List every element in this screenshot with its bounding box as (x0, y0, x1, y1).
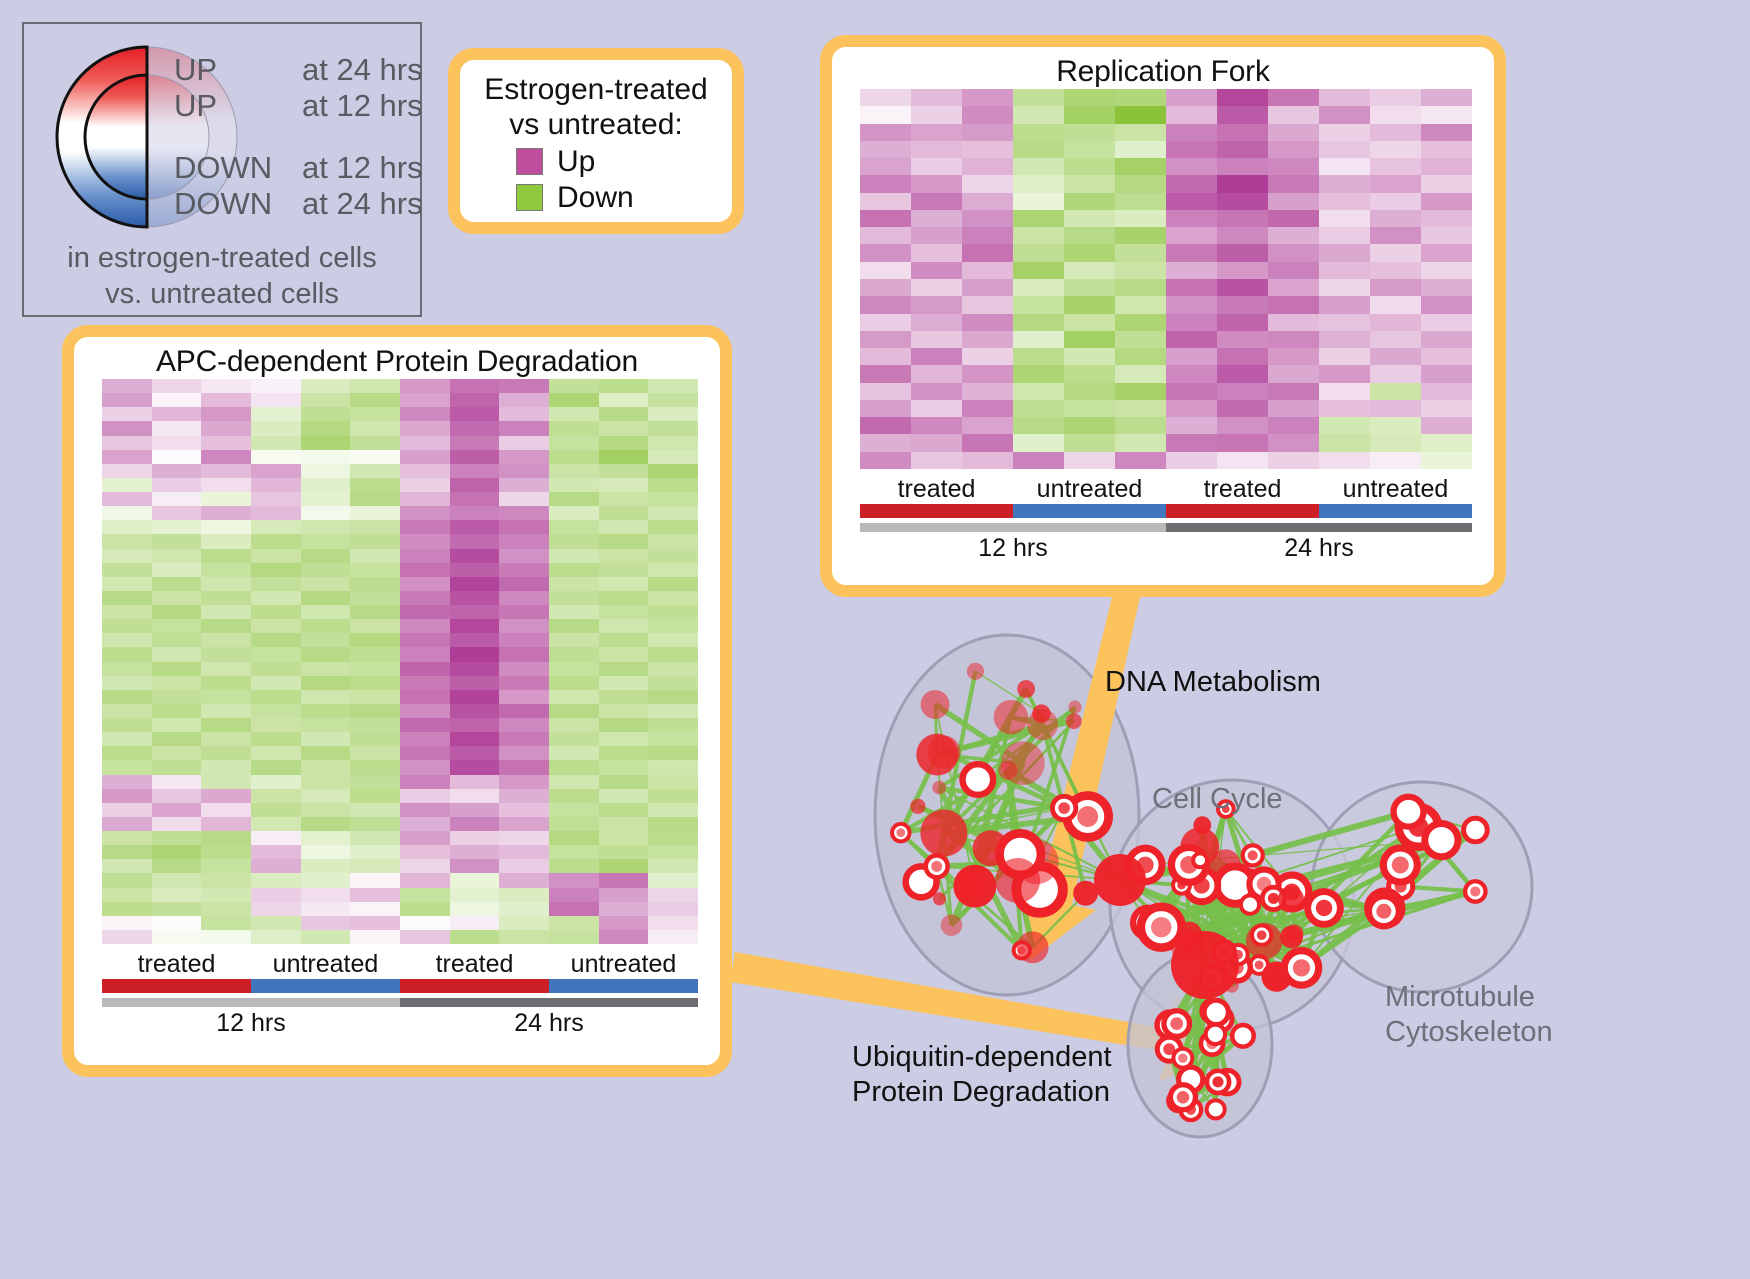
heatmap-cell (400, 662, 450, 676)
heatmap-cell (400, 534, 450, 548)
heatmap-cell (648, 577, 698, 591)
apc-panel: APC-dependent Protein Degradation treate… (62, 325, 732, 1077)
network-edge (1238, 935, 1262, 954)
heatmap-cell (499, 393, 549, 407)
apc-condition-bar (102, 979, 698, 993)
heatmap-cell (251, 746, 301, 760)
heatmap-cell (549, 845, 599, 859)
heatmap-cell (350, 478, 400, 492)
network-node-ring (1207, 1071, 1229, 1093)
heatmap-cell (301, 577, 351, 591)
heatmap-cell (549, 704, 599, 718)
heatmap-cell (962, 124, 1013, 141)
heatmap-cell (301, 407, 351, 421)
condition-bar-segment-untreated (251, 979, 400, 993)
heatmap-cell (301, 831, 351, 845)
heatmap-cell (400, 633, 450, 647)
heatmap-cell (102, 549, 152, 563)
apc-time-bar (102, 998, 698, 1007)
heatmap-cell (201, 421, 251, 435)
network-node (1225, 979, 1239, 993)
heatmap-cell (549, 902, 599, 916)
heatmap-cell (599, 803, 649, 817)
network-edge (1183, 1079, 1191, 1097)
network-node (932, 781, 946, 795)
heatmap-cell (102, 916, 152, 930)
heatmap-cell (860, 244, 911, 261)
heatmap-cell (499, 379, 549, 393)
heatmap-cell (599, 577, 649, 591)
condition-label: treated (102, 950, 251, 979)
heatmap-cell (1268, 331, 1319, 348)
heatmap-cell (350, 436, 400, 450)
heatmap-cell (251, 619, 301, 633)
down-swatch-icon (516, 184, 543, 211)
heatmap-cell (152, 534, 202, 548)
heatmap-cell (648, 407, 698, 421)
heatmap-cell (549, 775, 599, 789)
network-edge (1250, 905, 1262, 936)
heatmap-cell (860, 314, 911, 331)
heatmap-cell (350, 647, 400, 661)
key-rows: UP at 24 hrs UP at 12 hrs DOWN at 12 hrs… (174, 52, 424, 222)
network-edge (901, 804, 1066, 832)
network-edge (1205, 965, 1222, 969)
network-edge (1205, 965, 1277, 977)
network-edge (1177, 1024, 1216, 1035)
heatmap-cell (1268, 279, 1319, 296)
heatmap-cell (201, 746, 251, 760)
network-edge (1145, 840, 1441, 865)
heatmap-cell (499, 803, 549, 817)
network-edge (1183, 978, 1212, 1058)
heatmap-cell (499, 873, 549, 887)
heatmap-cell (549, 605, 599, 619)
heatmap-cell (301, 450, 351, 464)
heatmap-cell (648, 393, 698, 407)
heatmap-cell (962, 158, 1013, 175)
network-edge (1250, 905, 1264, 941)
heatmap-cell (549, 436, 599, 450)
heatmap-cell (549, 930, 599, 944)
network-node (998, 761, 1017, 780)
network-edge (1237, 891, 1475, 967)
network-edge (1205, 965, 1212, 978)
network-edge (1170, 1011, 1213, 1025)
heatmap-cell (1268, 106, 1319, 123)
heatmap-cell (400, 492, 450, 506)
network-node-core (1177, 881, 1185, 889)
heatmap-cell (201, 520, 251, 534)
network-edge (1187, 945, 1205, 965)
heatmap-cell (599, 520, 649, 534)
heatmap-cell (201, 633, 251, 647)
heatmap-cell (350, 605, 400, 619)
network-node (1280, 926, 1303, 949)
heatmap-cell (400, 379, 450, 393)
heatmap-cell (911, 210, 962, 227)
heatmap-cell (860, 400, 911, 417)
key-row-time: at 12 hrs (302, 150, 423, 186)
network-edge (1187, 899, 1291, 945)
network-edge (901, 833, 1022, 951)
heatmap-cell (648, 902, 698, 916)
heatmap-cell (251, 718, 301, 732)
heatmap-cell (350, 859, 400, 873)
heatmap-cell (1064, 193, 1115, 210)
heatmap-cell (648, 817, 698, 831)
network-edge (1222, 955, 1238, 969)
heatmap-cell (1370, 400, 1421, 417)
network-edge (1191, 944, 1259, 965)
network-edge (1235, 885, 1280, 896)
heatmap-cell (1115, 452, 1166, 469)
network-edge (1187, 891, 1475, 945)
network-edge (1191, 905, 1250, 945)
network-edge (1226, 809, 1295, 933)
time-label: 24 hrs (1166, 534, 1472, 563)
heatmap-cell (962, 434, 1013, 451)
heatmap-cell (1013, 434, 1064, 451)
heatmap-cell (152, 591, 202, 605)
heatmap-cell (1013, 331, 1064, 348)
heatmap-cell (102, 732, 152, 746)
heatmap-cell (962, 365, 1013, 382)
network-edge (1224, 891, 1475, 951)
heatmap-cell (450, 718, 500, 732)
heatmap-cell (549, 859, 599, 873)
heatmap-cell (301, 662, 351, 676)
heatmap-cell (911, 383, 962, 400)
heatmap-cell (152, 563, 202, 577)
network-edge (1200, 847, 1205, 965)
heatmap-cell (962, 279, 1013, 296)
apc-condition-labels: treateduntreatedtreateduntreated (102, 950, 698, 979)
network-edge (1292, 908, 1385, 937)
heatmap-cell (102, 450, 152, 464)
heatmap-cell (1064, 210, 1115, 227)
heatmap-cell (1064, 296, 1115, 313)
heatmap-cell (1166, 193, 1217, 210)
heatmap-cell (860, 158, 911, 175)
key-caption: in estrogen-treated cells vs. untreated … (24, 240, 420, 313)
heatmap-cell (450, 436, 500, 450)
heatmap-cell (201, 549, 251, 563)
network-node-ring (1173, 1049, 1192, 1068)
heatmap-cell (1370, 106, 1421, 123)
heatmap-cell (1217, 296, 1268, 313)
heatmap-cell (450, 605, 500, 619)
heatmap-cell (301, 633, 351, 647)
heatmap-cell (1370, 89, 1421, 106)
heatmap-cell (549, 619, 599, 633)
heatmap-cell (1115, 417, 1166, 434)
heatmap-cell (102, 873, 152, 887)
heatmap-cell (1013, 227, 1064, 244)
heatmap-cell (1217, 314, 1268, 331)
heatmap-cell (450, 577, 500, 591)
network-node (1171, 928, 1204, 961)
network-edge (1253, 855, 1302, 967)
heatmap-cell (201, 845, 251, 859)
heatmap-cell (350, 591, 400, 605)
heatmap-cell (1268, 244, 1319, 261)
heatmap-cell (1115, 348, 1166, 365)
heatmap-cell (1217, 365, 1268, 382)
network-edge (1148, 923, 1205, 965)
heatmap-cell (450, 506, 500, 520)
heatmap-cell (499, 718, 549, 732)
network-edge (1148, 923, 1264, 941)
heatmap-cell (1319, 210, 1370, 227)
heatmap-cell (860, 383, 911, 400)
heatmap-cell (599, 789, 649, 803)
replication-fork-time-labels: 12 hrs24 hrs (860, 534, 1472, 563)
heatmap-cell (102, 605, 152, 619)
network-node-core (931, 861, 942, 872)
heatmap-cell (648, 506, 698, 520)
network-node-ring (1180, 1099, 1201, 1120)
network-edge (939, 848, 990, 899)
heatmap-cell (599, 859, 649, 873)
heatmap-cell (1370, 262, 1421, 279)
network-edge (1120, 880, 1301, 968)
network-edge (1190, 809, 1226, 934)
network-edge (1385, 812, 1409, 908)
network-node-ring (1202, 1000, 1224, 1022)
condition-label: untreated (1013, 475, 1166, 504)
heatmap-cell (648, 704, 698, 718)
network-edge (1177, 1011, 1213, 1023)
heatmap-cell (499, 478, 549, 492)
heatmap-cell (152, 831, 202, 845)
network-edge (1148, 830, 1475, 923)
network-edge (1213, 1011, 1216, 1012)
heatmap-cell (599, 478, 649, 492)
heatmap-cell (1217, 175, 1268, 192)
network-node (994, 700, 1028, 734)
network-edge (1401, 886, 1476, 891)
network-node-ring (1193, 853, 1207, 867)
condition-label: treated (860, 475, 1013, 504)
network-node (953, 865, 996, 908)
heatmap-cell (911, 124, 962, 141)
network-node-core (1141, 915, 1156, 930)
network-node (1171, 931, 1239, 999)
heatmap-cell (1319, 296, 1370, 313)
heatmap-cell (102, 859, 152, 873)
heatmap-cell (102, 930, 152, 944)
condition-bar-segment-untreated (1013, 504, 1166, 518)
heatmap-cell (102, 647, 152, 661)
network-edge (937, 725, 1043, 867)
heatmap-cell (350, 817, 400, 831)
network-node-ring (1179, 1067, 1203, 1091)
heatmap-cell (201, 450, 251, 464)
heatmap-cell (400, 902, 450, 916)
condition-bar-segment-treated (102, 979, 251, 993)
heatmap-cell (201, 930, 251, 944)
network-node (1278, 886, 1304, 912)
heatmap-cell (599, 676, 649, 690)
network-node-ring (1250, 956, 1268, 974)
network-edge (1120, 880, 1148, 923)
heatmap-cell (648, 690, 698, 704)
cluster-label-dna-metabolism: DNA Metabolism (1105, 665, 1321, 700)
heatmap-cell (599, 662, 649, 676)
heatmap-cell (152, 775, 202, 789)
network-node-ring (1369, 896, 1399, 926)
heatmap-cell (648, 450, 698, 464)
heatmap-cell (1115, 158, 1166, 175)
heatmap-cell (350, 916, 400, 930)
heatmap-cell (201, 436, 251, 450)
network-node (995, 858, 1040, 903)
heatmap-cell (201, 619, 251, 633)
heatmap-cell (599, 732, 649, 746)
network-node-ring (1216, 866, 1253, 903)
network-edge (937, 755, 944, 833)
network-edge (1441, 830, 1475, 840)
heatmap-cell (1370, 124, 1421, 141)
heatmap-cell (499, 436, 549, 450)
heatmap-cell (1064, 331, 1115, 348)
heatmap-cell (549, 591, 599, 605)
network-edge (1018, 707, 1075, 880)
heatmap-cell (251, 888, 301, 902)
heatmap-cell (1421, 348, 1472, 365)
heatmap-cell (400, 916, 450, 930)
heatmap-cell (648, 803, 698, 817)
heatmap-cell (549, 789, 599, 803)
heatmap-cell (499, 690, 549, 704)
heatmap-cell (301, 478, 351, 492)
heatmap-cell (301, 704, 351, 718)
heatmap-cell (1166, 452, 1217, 469)
heatmap-cell (499, 859, 549, 873)
heatmap-cell (1268, 383, 1319, 400)
network-node-ring (1201, 1033, 1223, 1055)
heatmap-cell (400, 605, 450, 619)
heatmap-cell (301, 718, 351, 732)
network-edge (1225, 865, 1264, 884)
heatmap-cell (648, 930, 698, 944)
heatmap-cell (201, 690, 251, 704)
heatmap-cell (201, 478, 251, 492)
network-node-ring (1058, 797, 1073, 812)
condition-label: untreated (549, 950, 698, 979)
heatmap-cell (1268, 314, 1319, 331)
cluster-label-line1: Microtubule (1385, 980, 1553, 1015)
network-edge (1011, 717, 1043, 724)
network-edge (1161, 860, 1200, 927)
heatmap-cell (860, 279, 911, 296)
heatmap-cell (450, 916, 500, 930)
heatmap-cell (962, 314, 1013, 331)
network-node-core (1293, 959, 1310, 976)
heatmap-cell (648, 605, 698, 619)
heatmap-cell (499, 506, 549, 520)
heatmap-cell (1268, 400, 1319, 417)
network-node (1177, 922, 1202, 947)
heatmap-cell (648, 746, 698, 760)
network-edge (1218, 1019, 1220, 1082)
heatmap-cell (102, 845, 152, 859)
heatmap-cell (1319, 417, 1370, 434)
network-edge (1264, 840, 1441, 884)
network-edge (1222, 933, 1295, 968)
heatmap-cell (301, 605, 351, 619)
network-edge (1224, 899, 1291, 952)
heatmap-cell (251, 775, 301, 789)
heatmap-cell (911, 417, 962, 434)
network-node-ring (1170, 1085, 1195, 1110)
heatmap-cell (499, 831, 549, 845)
network-edge (1235, 885, 1259, 965)
heatmap-cell (648, 436, 698, 450)
heatmap-cell (599, 619, 649, 633)
heatmap-cell (301, 393, 351, 407)
network-node-core (896, 828, 905, 837)
network-edge (1202, 825, 1221, 968)
network-node-ring (926, 855, 948, 877)
heatmap-cell (251, 591, 301, 605)
heatmap-cell (400, 407, 450, 421)
network-node-ring (1173, 877, 1190, 894)
heatmap-cell (962, 452, 1013, 469)
network-node-ring (1368, 891, 1402, 925)
heatmap-cell (911, 400, 962, 417)
heatmap-cell (301, 379, 351, 393)
heatmap-cell (350, 676, 400, 690)
heatmap-cell (450, 662, 500, 676)
network-edge (1148, 899, 1291, 923)
network-node (1214, 961, 1229, 976)
heatmap-cell (1166, 331, 1217, 348)
heatmap-cell (301, 902, 351, 916)
heatmap-cell (400, 563, 450, 577)
heatmap-cell (1319, 175, 1370, 192)
network-edge (951, 808, 1064, 925)
heatmap-cell (102, 888, 152, 902)
heatmap-cell (648, 633, 698, 647)
heatmap-cell (1166, 383, 1217, 400)
heatmap-cell (1421, 193, 1472, 210)
heatmap-cell (1268, 365, 1319, 382)
heatmap-cell (400, 450, 450, 464)
network-edge (1222, 968, 1237, 969)
condition-bar-segment-treated (1166, 504, 1319, 518)
legend-item-down-label: Down (557, 181, 634, 215)
heatmap-cell (1013, 124, 1064, 141)
heatmap-cell (962, 296, 1013, 313)
network-edge (944, 707, 1075, 833)
network-edge (1259, 908, 1324, 965)
network-node-ring (1014, 942, 1030, 958)
network-edge (1170, 1025, 1243, 1036)
network-edge (1301, 908, 1324, 968)
network-edge (1205, 965, 1243, 1036)
heatmap-cell (152, 916, 202, 930)
network-edge (944, 689, 1026, 833)
heatmap-cell (1064, 89, 1115, 106)
network-edge (1238, 865, 1400, 955)
network-node (1236, 868, 1263, 895)
network-edge (1120, 880, 1205, 965)
heatmap-cell (1217, 279, 1268, 296)
heatmap-cell (301, 916, 351, 930)
heatmap-cell (599, 746, 649, 760)
